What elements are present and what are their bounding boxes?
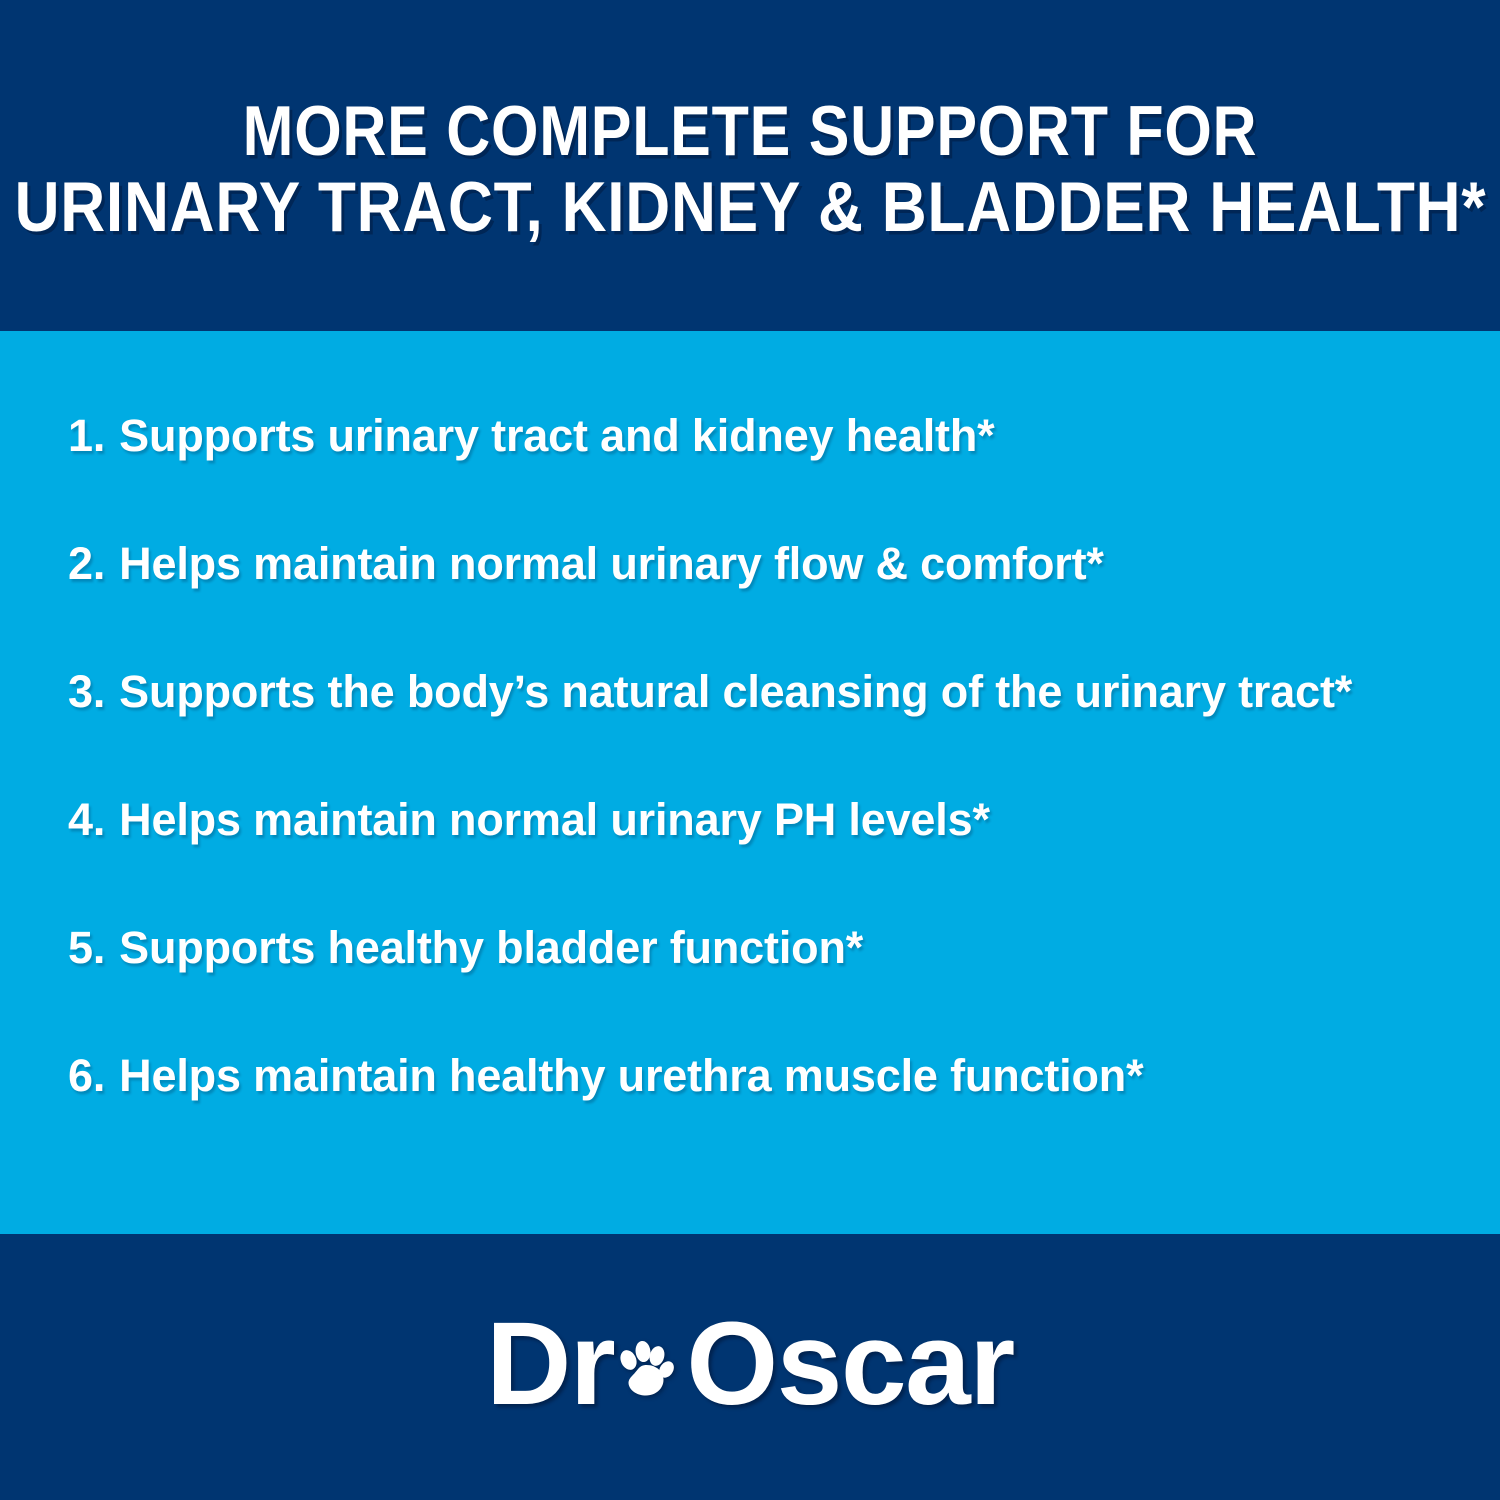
benefit-text: Helps maintain healthy urethra muscle fu… [119,1053,1143,1098]
benefit-text: Supports urinary tract and kidney health… [119,413,994,458]
footer-band: Dr Oscar [0,1234,1500,1500]
brand-name: Oscar [686,1305,1014,1423]
poster-canvas: MORE COMPLETE SUPPORT FOR URINARY TRACT,… [0,0,1500,1500]
benefit-text: Supports the body’s natural cleansing of… [119,669,1352,714]
benefit-number: 6. [68,1053,105,1098]
list-item: 2. Helps maintain normal urinary flow & … [68,541,1500,669]
list-item: 3. Supports the body’s natural cleansing… [68,669,1500,797]
paw-print-icon [616,1338,674,1400]
benefit-number: 2. [68,541,105,586]
list-item: 6. Helps maintain healthy urethra muscle… [68,1053,1500,1181]
headline-line-2: URINARY TRACT, KIDNEY & BLADDER HEALTH* [14,172,1486,242]
benefit-number: 5. [68,925,105,970]
brand-logo: Dr Oscar [486,1305,1014,1423]
benefit-text: Helps maintain normal urinary flow & com… [119,541,1104,586]
benefit-text: Helps maintain normal urinary PH levels* [119,797,990,842]
list-item: 5. Supports healthy bladder function* [68,925,1500,1053]
header-band: MORE COMPLETE SUPPORT FOR URINARY TRACT,… [0,0,1500,331]
benefit-number: 1. [68,413,105,458]
headline-line-1: MORE COMPLETE SUPPORT FOR [243,96,1258,166]
list-item: 1. Supports urinary tract and kidney hea… [68,413,1500,541]
benefit-number: 3. [68,669,105,714]
list-item: 4. Helps maintain normal urinary PH leve… [68,797,1500,925]
brand-prefix: Dr [486,1305,614,1423]
benefit-list: 1. Supports urinary tract and kidney hea… [68,413,1500,1181]
benefit-text: Supports healthy bladder function* [119,925,863,970]
benefit-number: 4. [68,797,105,842]
benefits-band: 1. Supports urinary tract and kidney hea… [0,331,1500,1234]
